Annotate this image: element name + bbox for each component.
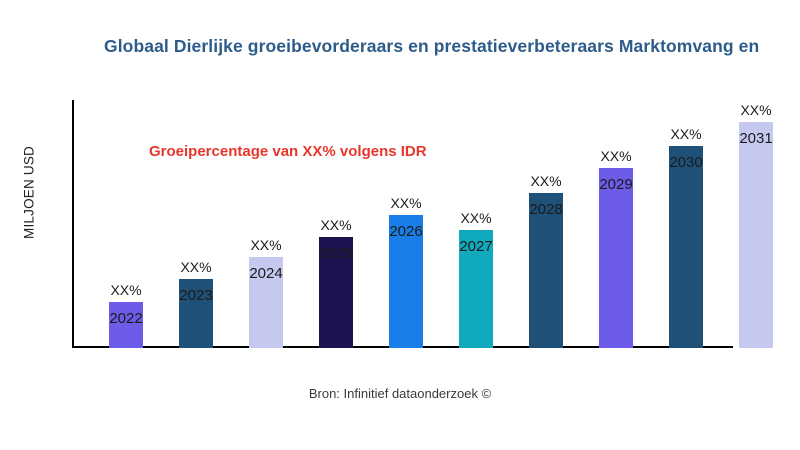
x-tick-2023: 2023 [179,287,212,304]
y-axis-line [72,100,74,348]
chart-container: Globaal Dierlijke groeibevorderaars en p… [0,0,800,450]
bar-group[interactable]: XX%2028 [529,191,563,348]
bar-group[interactable]: XX%2027 [459,228,493,348]
plot-area: XX%2022XX%2023XX%2024XX%2025XX%2026XX%20… [72,100,733,348]
x-tick-2027: 2027 [459,238,492,255]
chart-title: Globaal Dierlijke groeibevorderaars en p… [104,36,800,57]
bar-value-label-2028: XX% [530,173,561,189]
bar-group[interactable]: XX%2025 [319,235,353,348]
bar-value-label-2030: XX% [670,126,701,142]
bar-group[interactable]: XX%2026 [389,213,423,348]
bar-value-label-2022: XX% [110,282,141,298]
x-tick-2029: 2029 [599,176,632,193]
bar-2029[interactable] [599,168,633,348]
bar-value-label-2027: XX% [460,210,491,226]
bar-value-label-2024: XX% [250,237,281,253]
y-axis-label: MILJOEN USD [22,103,37,283]
bar-group[interactable]: XX%2024 [249,255,283,348]
x-tick-2028: 2028 [529,201,562,218]
x-tick-2024: 2024 [249,265,282,282]
bar-group[interactable]: XX%2023 [179,277,213,348]
bar-group[interactable]: XX%2030 [669,144,703,348]
bar-value-label-2031: XX% [740,102,771,118]
x-tick-2025: 2025 [319,245,352,262]
source-note: Bron: Infinitief dataonderzoek © [0,386,800,401]
bar-value-label-2025: XX% [320,217,351,233]
bar-value-label-2029: XX% [600,148,631,164]
x-tick-2026: 2026 [389,223,422,240]
bar-value-label-2026: XX% [390,195,421,211]
x-tick-2022: 2022 [109,310,142,327]
bar-value-label-2023: XX% [180,259,211,275]
bar-2031[interactable] [739,122,773,348]
x-tick-2030: 2030 [669,154,702,171]
x-tick-2031: 2031 [739,130,772,147]
bar-2030[interactable] [669,146,703,348]
bar-group[interactable]: XX%2029 [599,166,633,348]
bar-group[interactable]: XX%2031 [739,120,773,348]
bar-group[interactable]: XX%2022 [109,300,143,348]
